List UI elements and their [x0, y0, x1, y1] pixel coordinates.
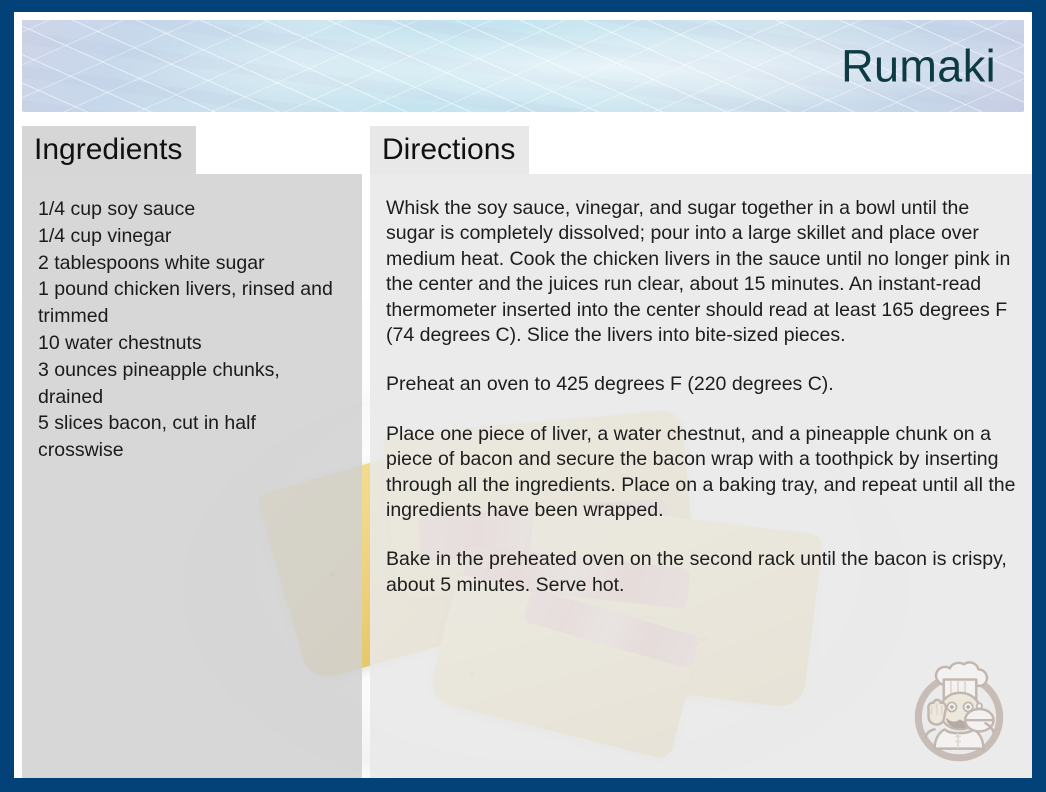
content-columns: Ingredients 1/4 cup soy sauce 1/4 cup vi… — [14, 126, 1032, 778]
ingredients-panel: 1/4 cup soy sauce 1/4 cup vinegar 2 tabl… — [22, 174, 362, 778]
list-item: 2 tablespoons white sugar — [38, 250, 346, 277]
list-item: 1/4 cup soy sauce — [38, 196, 346, 223]
direction-step: Bake in the preheated oven on the second… — [386, 547, 1016, 598]
list-item: 1/4 cup vinegar — [38, 223, 346, 250]
direction-step: Place one piece of liver, a water chestn… — [386, 422, 1016, 524]
ingredients-column: Ingredients 1/4 cup soy sauce 1/4 cup vi… — [22, 126, 362, 778]
direction-step: Preheat an oven to 425 degrees F (220 de… — [386, 372, 1016, 397]
chef-with-cloche-logo — [898, 648, 1020, 770]
list-item: 5 slices bacon, cut in half crosswise — [38, 410, 346, 464]
list-item: 3 ounces pineapple chunks, drained — [38, 357, 346, 411]
page-title: Rumaki — [841, 44, 996, 89]
directions-heading: Directions — [370, 126, 529, 174]
list-item: 10 water chestnuts — [38, 330, 346, 357]
list-item: 1 pound chicken livers, rinsed and trimm… — [38, 276, 346, 330]
recipe-page: Rumaki Ingredients 1/4 cup soy sauce 1/4… — [14, 12, 1032, 778]
ingredients-heading: Ingredients — [22, 126, 196, 174]
direction-step: Whisk the soy sauce, vinegar, and sugar … — [386, 196, 1016, 348]
ingredient-list: 1/4 cup soy sauce 1/4 cup vinegar 2 tabl… — [38, 196, 346, 464]
recipe-card-frame: Rumaki Ingredients 1/4 cup soy sauce 1/4… — [0, 0, 1046, 792]
direction-steps: Whisk the soy sauce, vinegar, and sugar … — [386, 196, 1016, 598]
header-banner: Rumaki — [22, 20, 1024, 112]
